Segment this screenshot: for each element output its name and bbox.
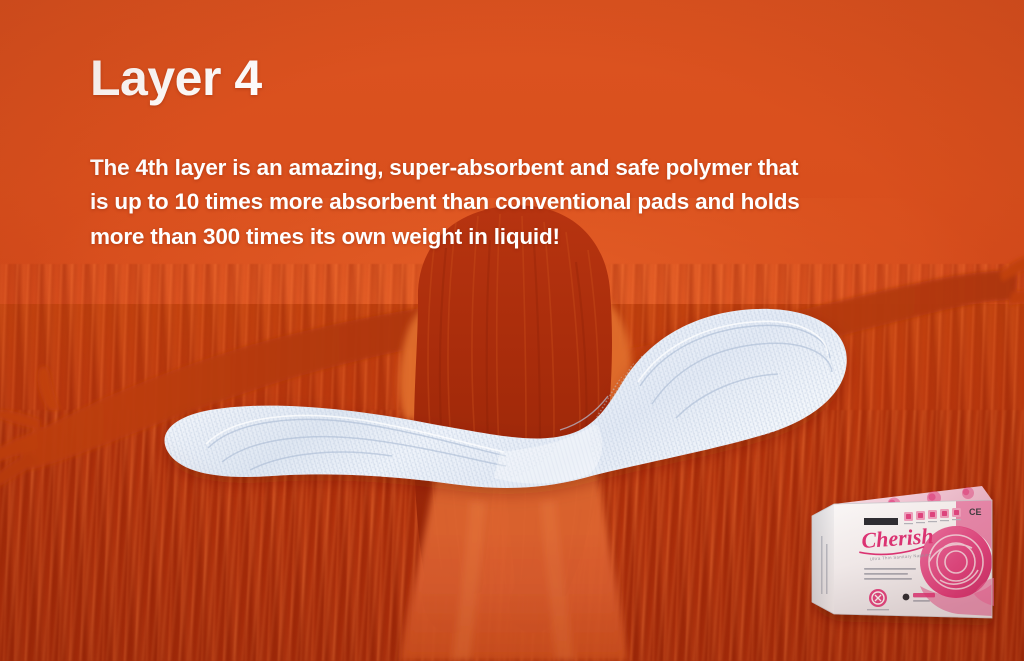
layer-4-promo-banner: Layer 4 The 4th layer is an amazing, sup…	[0, 0, 1024, 661]
vignette-overlay	[0, 0, 1024, 661]
